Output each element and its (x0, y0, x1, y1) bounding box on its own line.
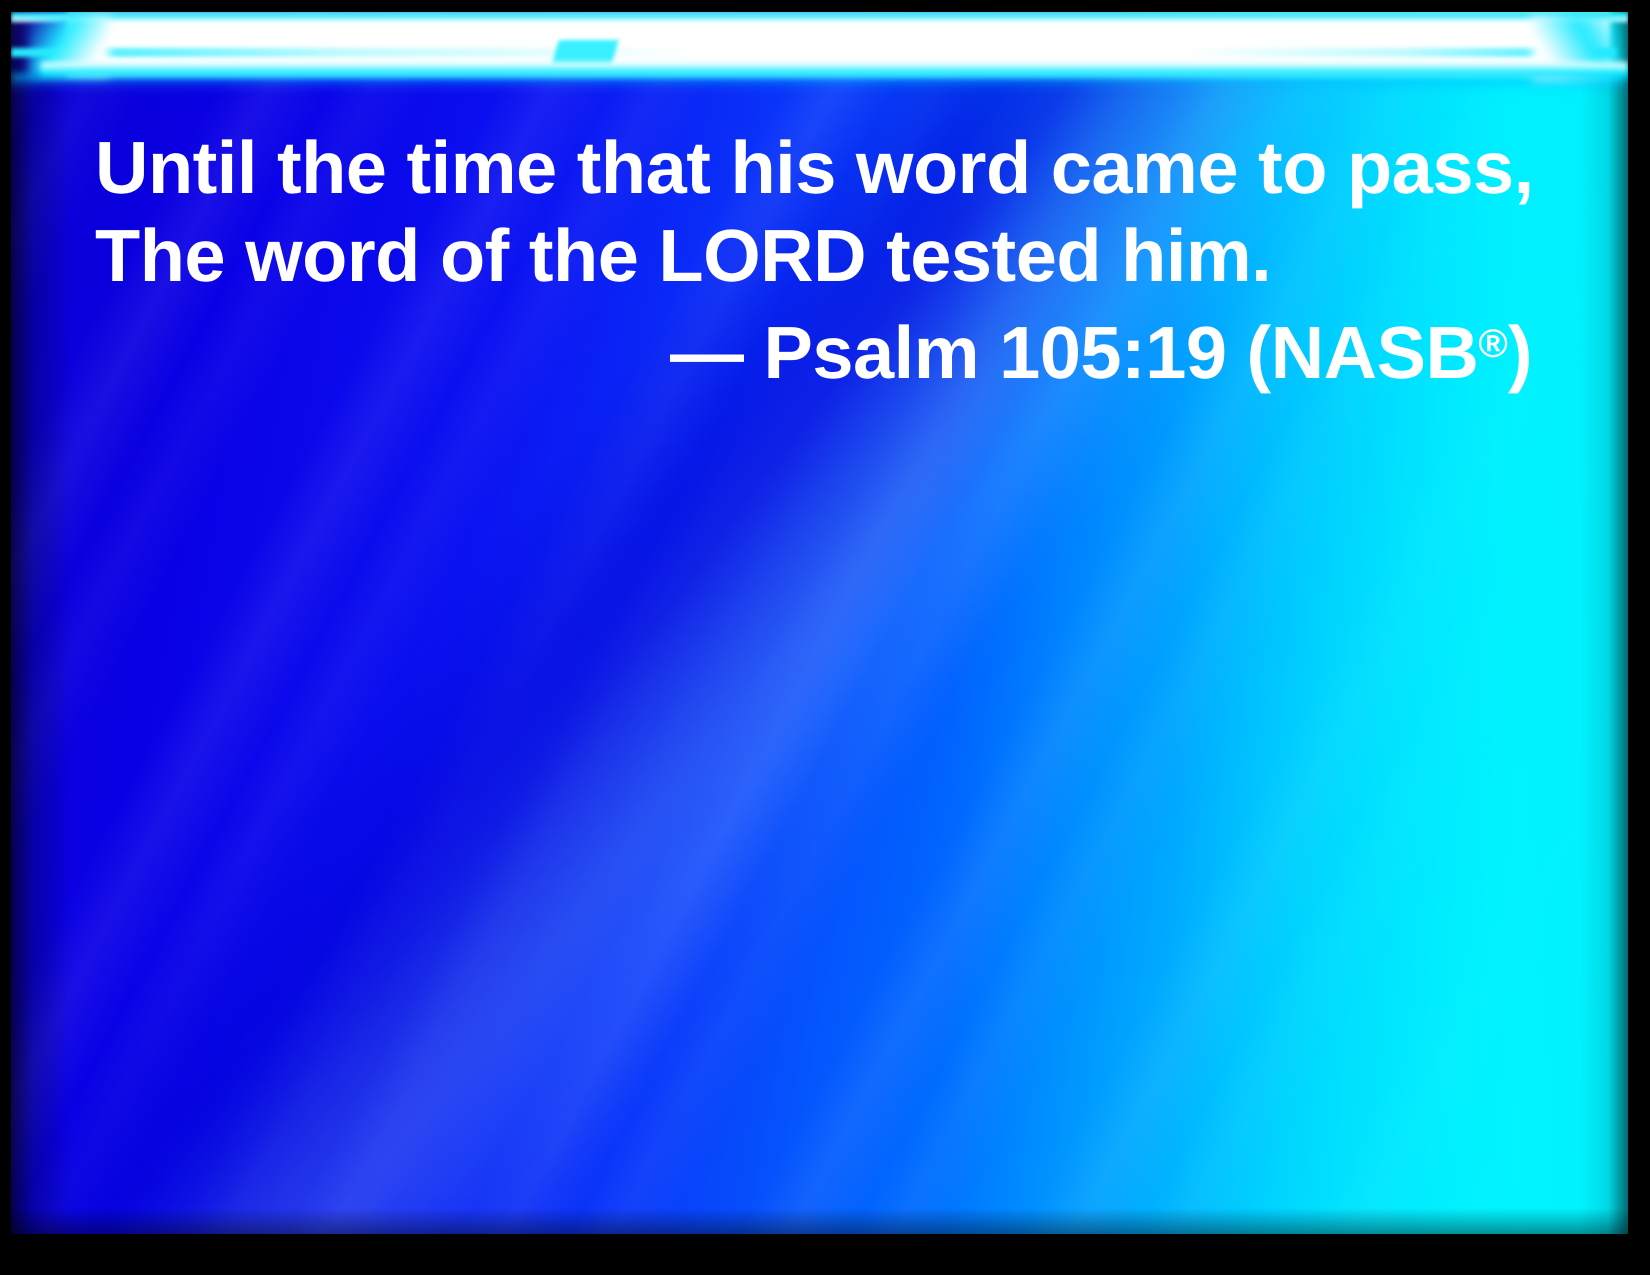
glow-cyan-top-edge (11, 12, 1628, 22)
top-glow-bar (11, 12, 1628, 84)
registered-trademark-icon: ® (1478, 322, 1507, 366)
slide-artwork-panel: Until the time that his word came to pas… (11, 12, 1628, 1234)
glow-underglow (11, 74, 1628, 92)
attribution-close-paren: ) (1508, 311, 1532, 394)
attribution-reference: — Psalm 105:19 (NASB (670, 311, 1478, 394)
scripture-slide: Until the time that his word came to pas… (0, 0, 1650, 1275)
verse-attribution: — Psalm 105:19 (NASB®) (95, 300, 1538, 397)
glow-cyan-streak-right (917, 48, 1616, 57)
verse-line-2: The word of the LORD tested him. (95, 212, 1538, 300)
verse-text-block: Until the time that his word came to pas… (95, 124, 1538, 397)
verse-line-1: Until the time that his word came to pas… (95, 124, 1538, 212)
